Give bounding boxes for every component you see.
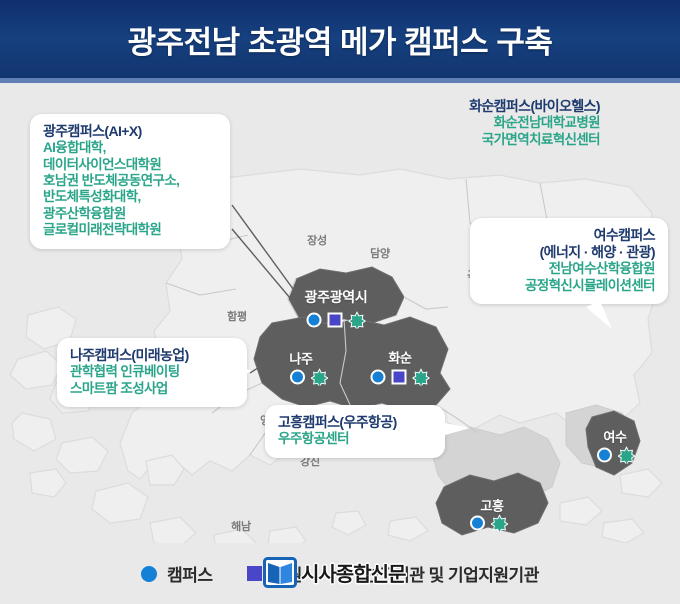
- callout-line: 우주항공센터: [278, 431, 432, 447]
- region-label-jangseong: 장성: [307, 232, 327, 248]
- marker-group-gwangju[interactable]: [307, 312, 366, 329]
- callout-subtitle: (에너지 · 해양 · 관광): [483, 244, 655, 261]
- callout-title: 고흥캠퍼스(우주항공): [278, 414, 432, 431]
- star-marker-icon: [618, 447, 635, 464]
- region-label-yeosu: 여수: [603, 427, 626, 446]
- callout-line: 데이터사이언스대학원: [43, 157, 217, 173]
- circle-marker-icon: [141, 566, 157, 582]
- legend-item-campus[interactable]: 캠퍼스: [141, 561, 212, 586]
- callout-line: 광주산학융합원: [43, 206, 217, 222]
- star-marker-icon: [311, 369, 328, 386]
- callout-title: 화순캠퍼스(바이오헬스): [352, 98, 600, 115]
- callout-line: 화순전남대학교병원: [352, 115, 600, 131]
- callout-title: 여수캠퍼스: [483, 227, 655, 244]
- star-marker-icon: [491, 515, 508, 532]
- circle-marker-icon: [290, 370, 305, 385]
- map-canvas: 장성 담양 곡성 구례 함평 무안 신안 영암 장흥 보성 강진 해남 진도 광…: [0, 83, 680, 543]
- callout-line: 전남여수산학융합원: [483, 261, 655, 277]
- legend: 캠퍼스 병원 연구기관 및 기업지원기관: [0, 543, 680, 604]
- callout-hwasun-campus[interactable]: 화순캠퍼스(바이오헬스) 화순전남대학교병원 국가면역치료혁신센터: [352, 98, 600, 148]
- legend-item-research[interactable]: 연구기관 및 기업지원기관: [336, 561, 539, 586]
- region-label-hwasun: 화순: [388, 348, 411, 367]
- region-label-hampyeong: 함평: [227, 308, 247, 324]
- marker-group-yeosu[interactable]: [597, 447, 635, 464]
- circle-marker-icon: [371, 370, 386, 385]
- star-marker-icon: [413, 369, 430, 386]
- marker-group-goheung[interactable]: [470, 515, 508, 532]
- callout-naju-campus[interactable]: 나주캠퍼스(미래농업) 관학협력 인큐베이팅 스마트팜 조성사업: [57, 338, 247, 407]
- region-label-haenam: 해남: [231, 518, 251, 534]
- legend-label: 캠퍼스: [167, 561, 212, 586]
- callout-yeosu-campus[interactable]: 여수캠퍼스 (에너지 · 해양 · 관광) 전남여수산학융합원 공정혁신시뮬레이…: [470, 218, 668, 304]
- infographic-root: 광주전남 초광역 메가 캠퍼스 구축: [0, 0, 680, 604]
- legend-label: 병원: [272, 561, 302, 586]
- circle-marker-icon: [470, 516, 485, 531]
- marker-group-naju[interactable]: [290, 369, 328, 386]
- callout-title: 광주캠퍼스(AI+X): [43, 123, 217, 140]
- legend-item-hospital[interactable]: 병원: [247, 561, 302, 586]
- callout-line: 국가면역치료혁신센터: [352, 132, 600, 148]
- marker-group-hwasun[interactable]: [371, 369, 430, 386]
- header-banner: 광주전남 초광역 메가 캠퍼스 구축: [0, 0, 680, 78]
- callout-line: 호남권 반도체공동연구소,: [43, 173, 217, 189]
- square-marker-icon: [247, 566, 262, 581]
- square-marker-icon: [328, 313, 343, 328]
- star-marker-icon: [336, 565, 354, 583]
- page-title: 광주전남 초광역 메가 캠퍼스 구축: [128, 17, 553, 62]
- star-marker-icon: [349, 312, 366, 329]
- region-label-naju: 나주: [289, 349, 312, 368]
- callout-line: 공정혁신시뮬레이션센터: [483, 278, 655, 294]
- circle-marker-icon: [597, 448, 612, 463]
- callout-gwangju-campus[interactable]: 광주캠퍼스(AI+X) AI융합대학, 데이터사이언스대학원 호남권 반도체공동…: [30, 114, 230, 249]
- circle-marker-icon: [307, 313, 322, 328]
- square-marker-icon: [392, 370, 407, 385]
- callout-goheung-campus[interactable]: 고흥캠퍼스(우주항공) 우주항공센터: [265, 405, 445, 458]
- region-label-goheung: 고흥: [480, 496, 503, 515]
- callout-line: 글로컬미래전략대학원: [43, 222, 217, 238]
- callout-title: 나주캠퍼스(미래농업): [70, 347, 234, 364]
- region-label-gwangju: 광주광역시: [305, 287, 368, 307]
- region-label-damyang: 담양: [370, 245, 390, 261]
- callout-line: 스마트팜 조성사업: [70, 381, 234, 397]
- legend-label: 연구기관 및 기업지원기관: [364, 561, 539, 586]
- callout-line: 반도체특성화대학,: [43, 189, 217, 205]
- callout-line: 관학협력 인큐베이팅: [70, 364, 234, 380]
- callout-line: AI융합대학,: [43, 140, 217, 156]
